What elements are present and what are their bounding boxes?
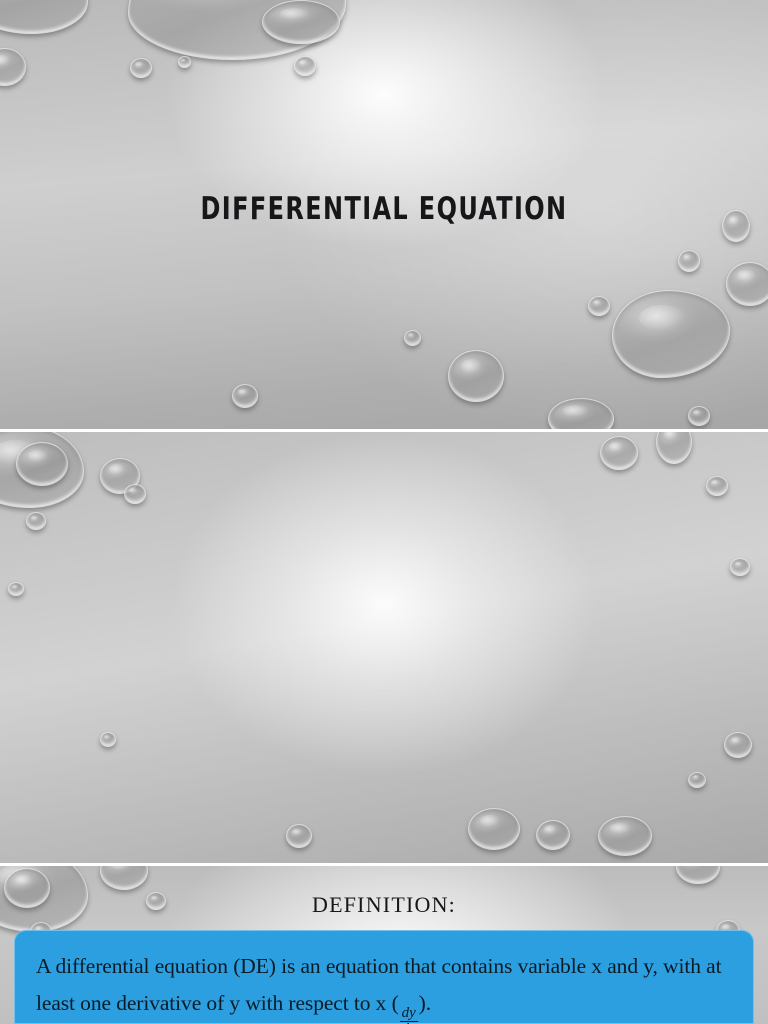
slide-2-diagram[interactable]: Definition Applications DE Separable DE … (0, 432, 768, 863)
definition-text-part2: ). (419, 991, 431, 1015)
slide-1-title[interactable]: DIFFERENTIAL EQUATION (0, 0, 768, 429)
definition-callout-text: A differential equation (DE) is an equat… (14, 930, 754, 1024)
presentation-page: DIFFERENTIAL EQUATION (0, 0, 768, 1024)
fraction-numerator: dy (400, 1006, 418, 1021)
definition-text-part1: A differential equation (DE) is an equat… (36, 954, 721, 1015)
page-title: DIFFERENTIAL EQUATION (54, 191, 714, 227)
derivative-fraction: dydx (400, 1006, 418, 1024)
section-heading: DEFINITION: (0, 892, 768, 918)
definition-callout-box[interactable]: A differential equation (DE) is an equat… (14, 930, 754, 1024)
slide-2-background (0, 432, 768, 863)
